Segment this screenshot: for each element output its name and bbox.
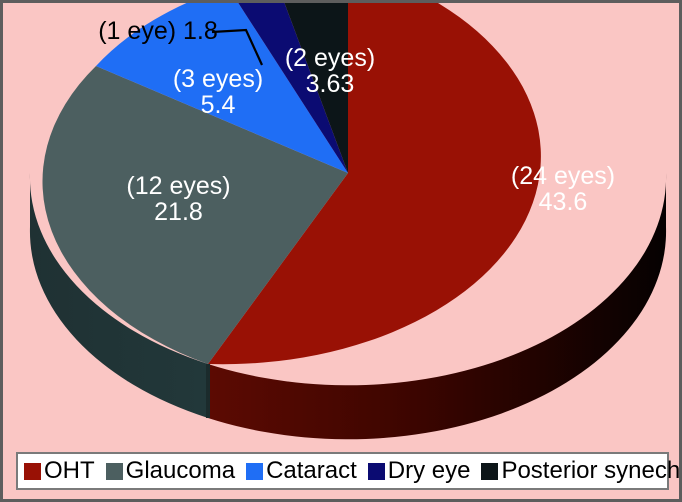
legend-item-glaucoma[interactable]: Glaucoma [106, 459, 235, 483]
legend-label-oht: OHT [44, 459, 95, 483]
legend-label-dry-eye: Dry eye [388, 459, 471, 483]
legend-item-cataract[interactable]: Cataract [246, 459, 357, 483]
pie-top-face [42, 3, 540, 364]
legend-swatch-cataract [246, 463, 263, 480]
legend-swatch-dry-eye [368, 463, 385, 480]
legend-item-oht[interactable]: OHT [24, 459, 95, 483]
pie-chart-area: (24 eyes) 43.6 (12 eyes) 21.8 (3 eyes) 5… [3, 3, 682, 447]
legend-swatch-oht [24, 463, 41, 480]
legend-label-posterior-synechiae: Posterior synechiae [501, 459, 682, 483]
chart-page: (24 eyes) 43.6 (12 eyes) 21.8 (3 eyes) 5… [0, 0, 682, 502]
legend-label-cataract: Cataract [266, 459, 357, 483]
legend-swatch-posterior-synechiae [481, 463, 498, 480]
legend-item-posterior-synechiae[interactable]: Posterior synechiae [481, 459, 682, 483]
pie-chart-svg [3, 3, 682, 447]
legend-item-dry-eye[interactable]: Dry eye [368, 459, 471, 483]
chart-legend: OHT Glaucoma Cataract Dry eye Posterior … [16, 452, 669, 490]
slice-side-divider [206, 364, 210, 418]
legend-label-glaucoma: Glaucoma [126, 459, 235, 483]
legend-swatch-glaucoma [106, 463, 123, 480]
